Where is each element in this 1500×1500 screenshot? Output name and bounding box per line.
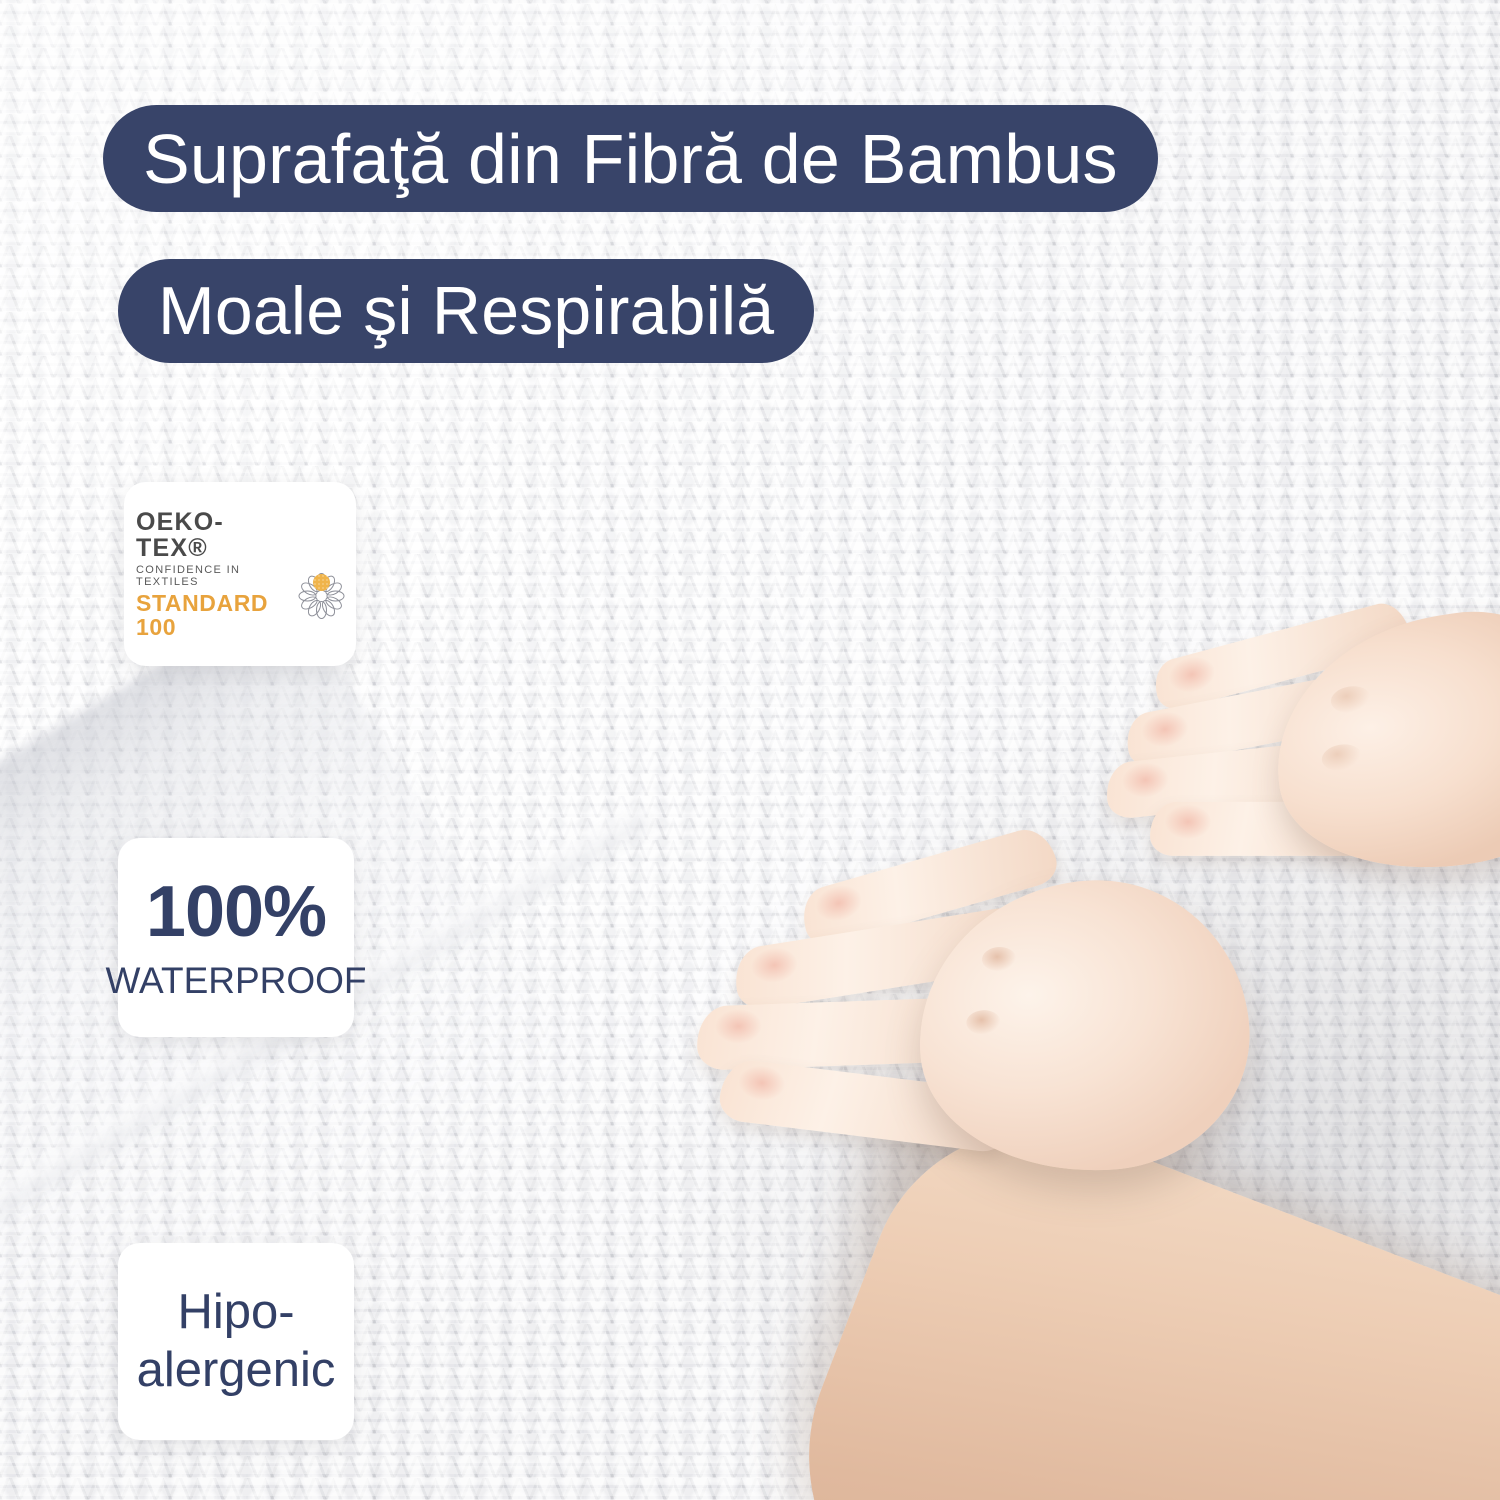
hypoallergenic-line-2: alergenic: [137, 1342, 336, 1400]
oeko-tex-text-block: OEKO-TEX® CONFIDENCE IN TEXTILES STANDAR…: [136, 509, 292, 640]
flower-core: [313, 574, 330, 591]
waterproof-percent: 100%: [146, 876, 326, 948]
waterproof-feature-card: 100% WATERPROOF: [118, 838, 354, 1037]
waterproof-label: WATERPROOF: [105, 962, 366, 999]
oeko-tex-flower-icon: [298, 559, 344, 605]
oeko-tex-row: OEKO-TEX® CONFIDENCE IN TEXTILES STANDAR…: [136, 509, 344, 640]
baby-hand: [607, 827, 1253, 1269]
product-feature-image: Suprafaţă din Fibră de Bambus Moale şi R…: [0, 0, 1500, 1500]
oeko-tex-badge-card: OEKO-TEX® CONFIDENCE IN TEXTILES STANDAR…: [124, 482, 356, 666]
oeko-tex-badge: OEKO-TEX® CONFIDENCE IN TEXTILES STANDAR…: [124, 509, 356, 640]
headline-pill-primary: Suprafaţă din Fibră de Bambus: [103, 105, 1158, 212]
oeko-tex-standard: STANDARD 100: [136, 591, 292, 639]
hypoallergenic-feature-card: Hipo- alergenic: [118, 1243, 354, 1440]
oeko-tex-subtitle: CONFIDENCE IN TEXTILES: [136, 564, 292, 588]
headline-pill-secondary: Moale şi Respirabilă: [118, 259, 814, 363]
hypoallergenic-line-1: Hipo-: [177, 1284, 294, 1342]
oeko-tex-title: OEKO-TEX®: [136, 509, 292, 562]
